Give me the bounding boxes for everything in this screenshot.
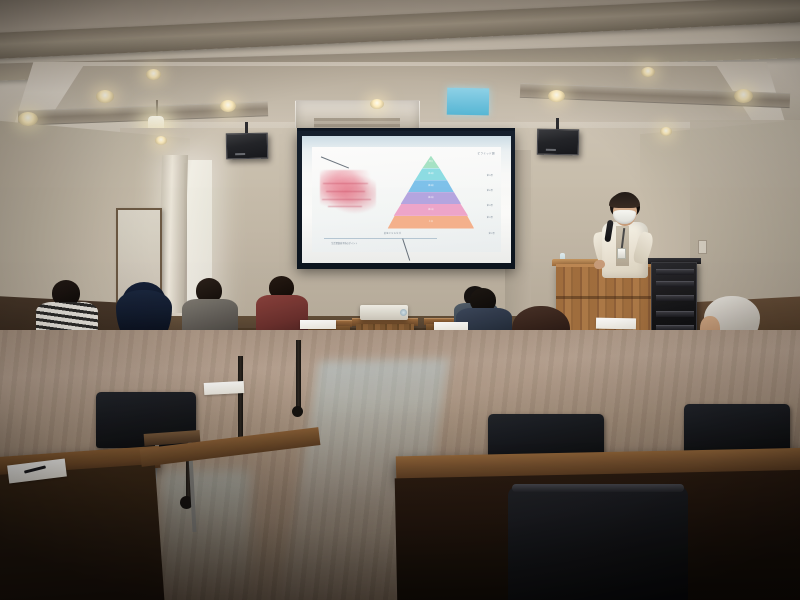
desk-caster-1 (292, 406, 303, 417)
speaker-left-icon (226, 133, 268, 160)
speaker-left-badge (235, 153, 245, 155)
slide-side-note-4: 第2層 (487, 216, 493, 219)
pyramid-tier-3-label: 第3段 (428, 185, 434, 187)
downlight-10 (660, 127, 672, 136)
handout-foreground-2 (204, 381, 245, 395)
desk-leg-2 (238, 356, 243, 442)
pyramid-tier-6: 土台 (388, 216, 475, 229)
slide-side-note-1: 第5層 (487, 174, 493, 177)
downlight-6 (548, 90, 565, 102)
pyramid-tier-5-label: 第1段 (428, 209, 434, 211)
downlight-7 (641, 67, 655, 77)
projector-lens-icon (400, 309, 407, 316)
handout-desk-4 (596, 318, 636, 330)
pyramid-tier-4: 第2段 (401, 192, 462, 204)
presenter (592, 192, 662, 282)
downlight-5 (370, 99, 384, 109)
downlight-1 (18, 112, 38, 126)
downlight-4 (220, 100, 236, 112)
downlight-8 (734, 89, 753, 103)
pyramid-tier-2: 第4段 (415, 168, 447, 180)
slide-footer-note: 生活習慣病予防のポイント (324, 238, 437, 247)
floor-light-reflection-2 (160, 470, 250, 600)
handout-desk-5 (300, 320, 336, 329)
slide-side-note-2: 第4層 (487, 189, 493, 192)
projection-screen: ピラミッド図 頂点 第4段 第3段 (297, 131, 515, 269)
pyramid-tier-1-label: 頂点 (429, 161, 433, 163)
slide-side-note-5: 第1層 (489, 232, 495, 235)
screen-surface: ピラミッド図 頂点 第4段 第3段 (302, 136, 511, 263)
slide-pyramid-diagram: 頂点 第4段 第3段 第2段 第1段 土台 (388, 156, 475, 235)
slide-pointer-line-left (321, 156, 349, 168)
slide-title: ピラミッド図 (478, 151, 495, 155)
downlight-9 (155, 136, 167, 145)
slide-side-note-3: 第3層 (487, 204, 493, 207)
slide-base-label: 基盤となる生活 (384, 232, 401, 235)
pyramid-tier-2-label: 第4段 (428, 173, 434, 175)
seminar-room-photo: ピラミッド図 頂点 第4段 第3段 (0, 0, 800, 600)
podium-shadow-line (556, 296, 652, 299)
desk-foreground-left-body (0, 464, 165, 600)
downlight-3 (146, 69, 161, 80)
slide-illustration (320, 170, 376, 214)
wall-outlet-plate (698, 240, 707, 254)
chair-foreground-right (508, 486, 688, 600)
pyramid-tier-3: 第3段 (408, 180, 454, 192)
ceiling-blue-panel (447, 88, 489, 116)
pyramid-tier-1: 頂点 (422, 156, 439, 169)
speaker-right-badge (546, 149, 556, 151)
speaker-right-icon (537, 129, 579, 156)
name-badge (617, 248, 626, 259)
desk-leg-1 (296, 340, 301, 410)
pyramid-tier-4-label: 第2段 (428, 197, 434, 199)
pyramid-tier-6-label: 土台 (429, 221, 433, 223)
pyramid-tier-5: 第1段 (394, 204, 468, 216)
slide-content: ピラミッド図 頂点 第4段 第3段 (312, 147, 500, 251)
chair-foreground-right-rail (512, 484, 684, 492)
downlight-2 (96, 90, 114, 103)
